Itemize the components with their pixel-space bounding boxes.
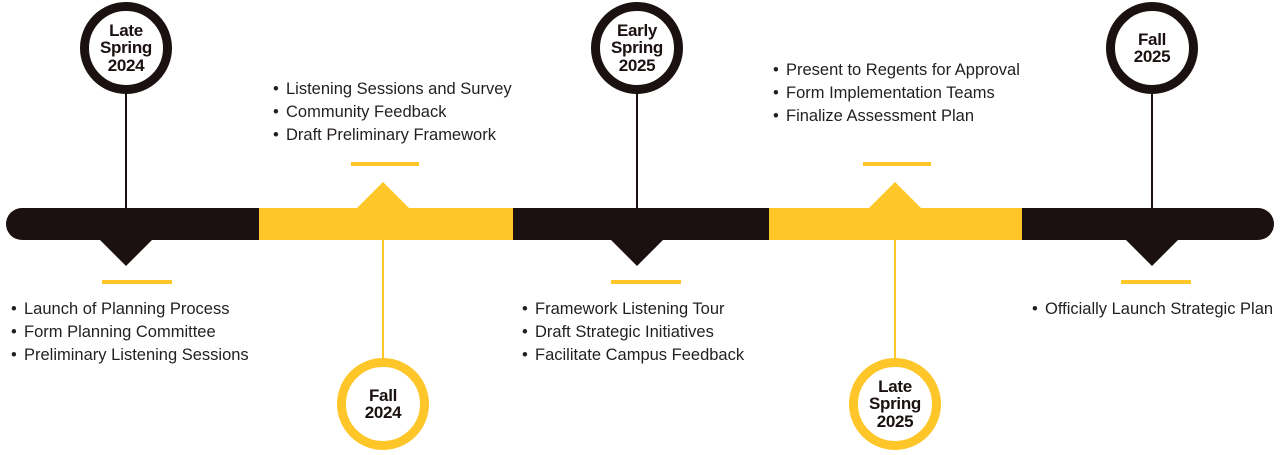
milestone-label: Early Spring 2025 <box>611 22 663 75</box>
task-group-late-spring-2024: Launch of Planning Process Form Planning… <box>10 298 249 367</box>
milestone-late-spring-2025[interactable]: Late Spring 2025 <box>849 358 941 450</box>
task-group-early-spring-2025: Framework Listening Tour Draft Strategic… <box>521 298 744 367</box>
accent-rule-fall-2024 <box>351 162 419 166</box>
milestone-late-spring-2024[interactable]: Late Spring 2024 <box>80 2 172 94</box>
connector-late-spring-2025 <box>894 234 896 360</box>
timeline-diagram: Late Spring 2024 Fall 2024 Early Spring … <box>0 0 1280 455</box>
timeline-bar-segment-2 <box>259 208 513 240</box>
task-item: Draft Preliminary Framework <box>286 124 512 147</box>
connector-early-spring-2025 <box>636 88 638 214</box>
connector-fall-2024 <box>382 234 384 360</box>
task-item: Facilitate Campus Feedback <box>535 344 744 367</box>
task-item: Listening Sessions and Survey <box>286 78 512 101</box>
timeline-arrow-down-late-spring-2024 <box>100 240 152 266</box>
task-list: Listening Sessions and Survey Community … <box>272 78 512 147</box>
timeline-arrow-up-late-spring-2025 <box>869 182 921 208</box>
task-item: Framework Listening Tour <box>535 298 744 321</box>
task-item: Officially Launch Strategic Plan <box>1045 298 1273 321</box>
timeline-arrow-down-fall-2025 <box>1126 240 1178 266</box>
connector-late-spring-2024 <box>125 88 127 214</box>
task-group-fall-2025: Officially Launch Strategic Plan <box>1031 298 1273 321</box>
milestone-fall-2024[interactable]: Fall 2024 <box>337 358 429 450</box>
task-item: Finalize Assessment Plan <box>786 105 1020 128</box>
task-list: Launch of Planning Process Form Planning… <box>10 298 249 367</box>
timeline-bar-segment-3 <box>513 208 769 240</box>
timeline-bar-segment-1 <box>6 208 259 240</box>
task-item: Launch of Planning Process <box>24 298 249 321</box>
milestone-label: Fall 2025 <box>1134 31 1171 66</box>
task-item: Present to Regents for Approval <box>786 59 1020 82</box>
task-list: Framework Listening Tour Draft Strategic… <box>521 298 744 367</box>
task-item: Form Implementation Teams <box>786 82 1020 105</box>
milestone-fall-2025[interactable]: Fall 2025 <box>1106 2 1198 94</box>
accent-rule-late-spring-2024 <box>102 280 172 284</box>
task-list: Officially Launch Strategic Plan <box>1031 298 1273 321</box>
accent-rule-fall-2025 <box>1121 280 1191 284</box>
milestone-early-spring-2025[interactable]: Early Spring 2025 <box>591 2 683 94</box>
task-item: Community Feedback <box>286 101 512 124</box>
task-group-fall-2024: Listening Sessions and Survey Community … <box>272 78 512 147</box>
milestone-label: Late Spring 2024 <box>100 22 152 75</box>
task-item: Draft Strategic Initiatives <box>535 321 744 344</box>
task-list: Present to Regents for Approval Form Imp… <box>772 59 1020 128</box>
timeline-bar-segment-5 <box>1022 208 1274 240</box>
timeline-arrow-down-early-spring-2025 <box>611 240 663 266</box>
milestone-label: Fall 2024 <box>365 387 402 422</box>
timeline-arrow-up-fall-2024 <box>357 182 409 208</box>
accent-rule-late-spring-2025 <box>863 162 931 166</box>
connector-fall-2025 <box>1151 88 1153 214</box>
task-item: Preliminary Listening Sessions <box>24 344 249 367</box>
task-group-late-spring-2025: Present to Regents for Approval Form Imp… <box>772 59 1020 128</box>
task-item: Form Planning Committee <box>24 321 249 344</box>
milestone-label: Late Spring 2025 <box>869 378 921 431</box>
accent-rule-early-spring-2025 <box>611 280 681 284</box>
